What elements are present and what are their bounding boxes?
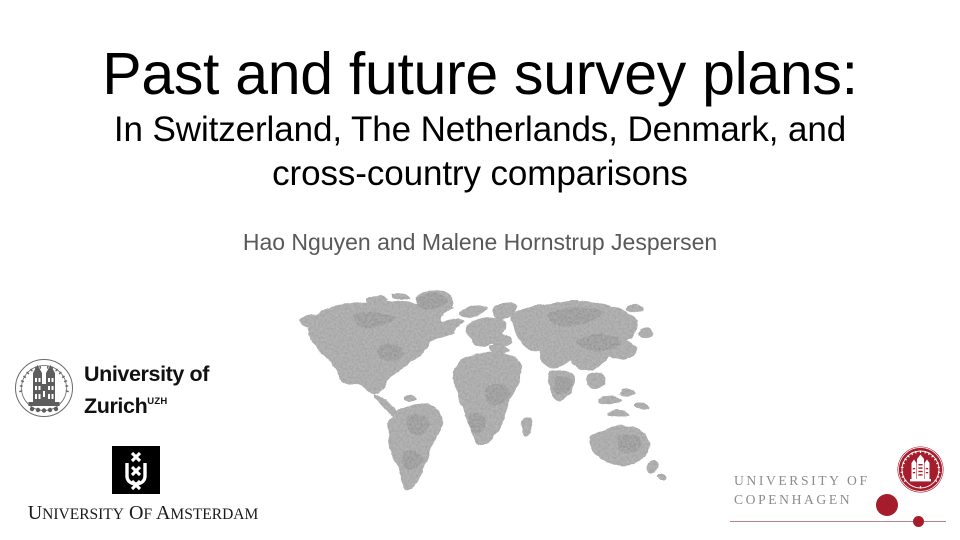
world-map-image bbox=[292, 286, 672, 501]
uzh-wordmark: University of ZurichUZH bbox=[84, 361, 209, 420]
uva-word-u: U bbox=[28, 502, 42, 524]
uzh-abbrev: UZH bbox=[147, 396, 167, 407]
ucph-wordmark-line2: COPENHAGEN bbox=[734, 490, 870, 509]
slide-canvas: Past and future survey plans: In Switzer… bbox=[0, 0, 960, 540]
subtitle-line-1: In Switzerland, The Netherlands, Denmark… bbox=[0, 108, 960, 152]
ucph-accent-dot-large bbox=[876, 494, 898, 516]
logo-university-of-amsterdam: UNIVERSITY OF AMSTERDAM bbox=[18, 446, 268, 528]
uva-word-o: O bbox=[129, 502, 143, 524]
uzh-seal-icon bbox=[14, 358, 74, 418]
subtitle-line-2: cross-country comparisons bbox=[0, 152, 960, 196]
author-line: Hao Nguyen and Malene Hornstrup Jesperse… bbox=[0, 227, 960, 257]
ucph-wordmark-line1: UNIVERSITY OF bbox=[734, 471, 870, 490]
uva-word-a: A bbox=[156, 502, 170, 524]
uva-word-msterdam: MSTERDAM bbox=[170, 506, 258, 523]
uzh-city: Zurich bbox=[84, 394, 147, 418]
logo-university-of-copenhagen: UNIVERSITY OF COPENHAGEN bbox=[720, 440, 946, 530]
uva-word-niversity: NIVERSITY bbox=[42, 506, 124, 523]
uzh-wordmark-line1: University of bbox=[84, 361, 209, 388]
uva-word-f: F bbox=[143, 506, 152, 523]
ucph-wordmark: UNIVERSITY OF COPENHAGEN bbox=[734, 471, 870, 509]
ucph-seal-icon bbox=[896, 445, 945, 494]
title-block: Past and future survey plans: In Switzer… bbox=[0, 40, 960, 196]
uva-wordmark: UNIVERSITY OF AMSTERDAM bbox=[18, 500, 268, 528]
ucph-accent-dot-small bbox=[913, 516, 924, 527]
uva-xxx-shield-icon bbox=[112, 446, 160, 494]
logo-university-of-zurich: University of ZurichUZH bbox=[14, 358, 229, 420]
page-title: Past and future survey plans: bbox=[0, 40, 960, 108]
uzh-wordmark-line2: ZurichUZH bbox=[84, 388, 209, 420]
